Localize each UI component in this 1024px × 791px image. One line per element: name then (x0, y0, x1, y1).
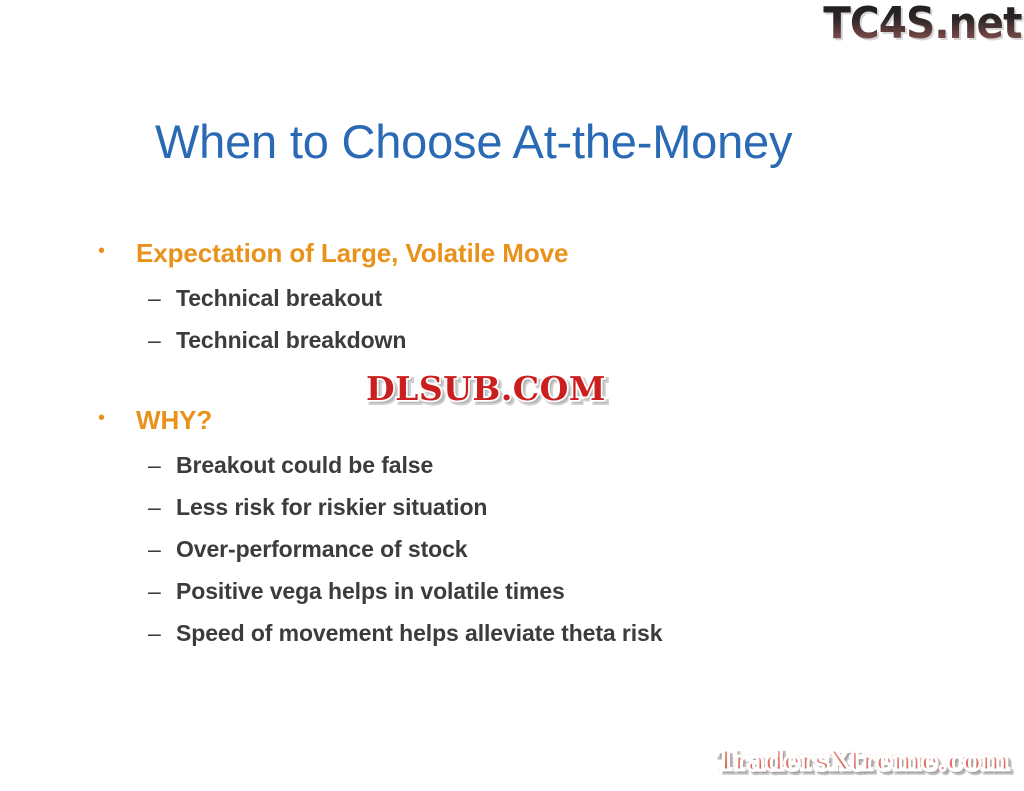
bullet-level2: – Positive vega helps in volatile times (0, 578, 1024, 620)
dash-icon: – (148, 329, 176, 352)
bullet-level2-text: Positive vega helps in volatile times (176, 578, 565, 605)
bullet-level2: – Speed of movement helps alleviate thet… (0, 620, 1024, 662)
bullet-level2-text: Breakout could be false (176, 452, 433, 479)
dash-icon: – (148, 580, 176, 603)
dash-icon: – (148, 622, 176, 645)
bullet-dot-icon: • (98, 408, 136, 428)
bullet-level1: • WHY? (0, 405, 1024, 452)
dash-icon: – (148, 496, 176, 519)
slide-body-list: • Expectation of Large, Volatile Move – … (0, 238, 1024, 662)
dash-icon: – (148, 287, 176, 310)
dash-icon: – (148, 454, 176, 477)
bullet-level2: – Breakout could be false (0, 452, 1024, 494)
presentation-slide: TC4S.net TC4S.net When to Choose At-the-… (0, 0, 1024, 791)
tc4s-watermark: TC4S.net (824, 0, 1022, 48)
slide-title: When to Choose At-the-Money (155, 115, 915, 169)
bullet-level1: • Expectation of Large, Volatile Move (0, 238, 1024, 285)
bullet-level1-text: WHY? (136, 405, 212, 436)
bullet-level2-text: Speed of movement helps alleviate theta … (176, 620, 662, 647)
bullet-dot-icon: • (98, 241, 136, 261)
dlsub-watermark: DLSUB.COM (366, 370, 606, 408)
bullet-level2: – Less risk for riskier situation (0, 494, 1024, 536)
bullet-level2: – Technical breakdown (0, 327, 1024, 369)
bullet-level2: – Technical breakout (0, 285, 1024, 327)
bullet-level2: – Over-performance of stock (0, 536, 1024, 578)
bullet-level2-text: Technical breakout (176, 285, 382, 312)
tradersxtreme-watermark: TradersXtreme.com (716, 746, 1009, 778)
bullet-level2-text: Technical breakdown (176, 327, 406, 354)
bullet-level1-text: Expectation of Large, Volatile Move (136, 238, 568, 269)
bullet-level2-text: Over-performance of stock (176, 536, 467, 563)
bullet-level2-text: Less risk for riskier situation (176, 494, 487, 521)
dash-icon: – (148, 538, 176, 561)
